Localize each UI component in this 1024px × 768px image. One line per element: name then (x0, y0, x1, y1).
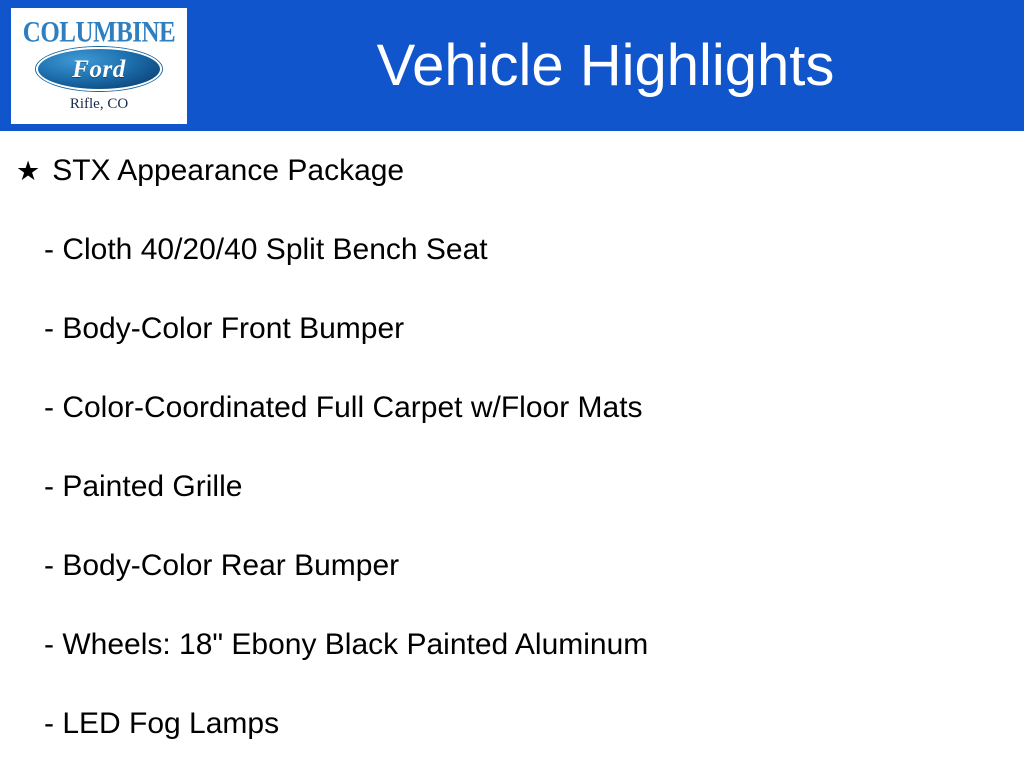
list-item-label: - Color-Coordinated Full Carpet w/Floor … (44, 393, 643, 423)
list-item-label: - Painted Grille (44, 472, 242, 502)
dealer-logo: COLUMBINE Ford Rifle, CO (11, 8, 187, 124)
logo-brand-word: COLUMBINE (23, 18, 175, 48)
list-item-label: - LED Fog Lamps (44, 709, 279, 739)
logo-city-label: Rifle, CO (70, 97, 128, 112)
logo-oval-word: Ford (72, 57, 125, 82)
slide-header: COLUMBINE Ford Rifle, CO Vehicle Highlig… (0, 0, 1024, 131)
ford-oval-icon: Ford (36, 47, 162, 91)
star-bullet-icon: ★ (16, 158, 40, 185)
list-item: - LED Fog Lamps (0, 704, 1024, 744)
list-item: - Body-Color Rear Bumper (0, 546, 1024, 586)
page-title: Vehicle Highlights (187, 0, 1024, 131)
list-item: - Wheels: 18" Ebony Black Painted Alumin… (0, 625, 1024, 665)
list-item: - Cloth 40/20/40 Split Bench Seat (0, 230, 1024, 270)
list-item-label: - Wheels: 18" Ebony Black Painted Alumin… (44, 630, 648, 660)
list-item: - Color-Coordinated Full Carpet w/Floor … (0, 388, 1024, 428)
list-item-label: STX Appearance Package (52, 156, 404, 186)
list-item-label: - Body-Color Rear Bumper (44, 551, 399, 581)
slide-content: ★STX Appearance Package- Cloth 40/20/40 … (0, 131, 1024, 768)
list-item: ★STX Appearance Package (0, 151, 1024, 191)
list-item: - Body-Color Front Bumper (0, 309, 1024, 349)
list-item-label: - Body-Color Front Bumper (44, 314, 404, 344)
list-item-label: - Cloth 40/20/40 Split Bench Seat (44, 235, 488, 265)
list-item: - Painted Grille (0, 467, 1024, 507)
slide-root: COLUMBINE Ford Rifle, CO Vehicle Highlig… (0, 0, 1024, 768)
